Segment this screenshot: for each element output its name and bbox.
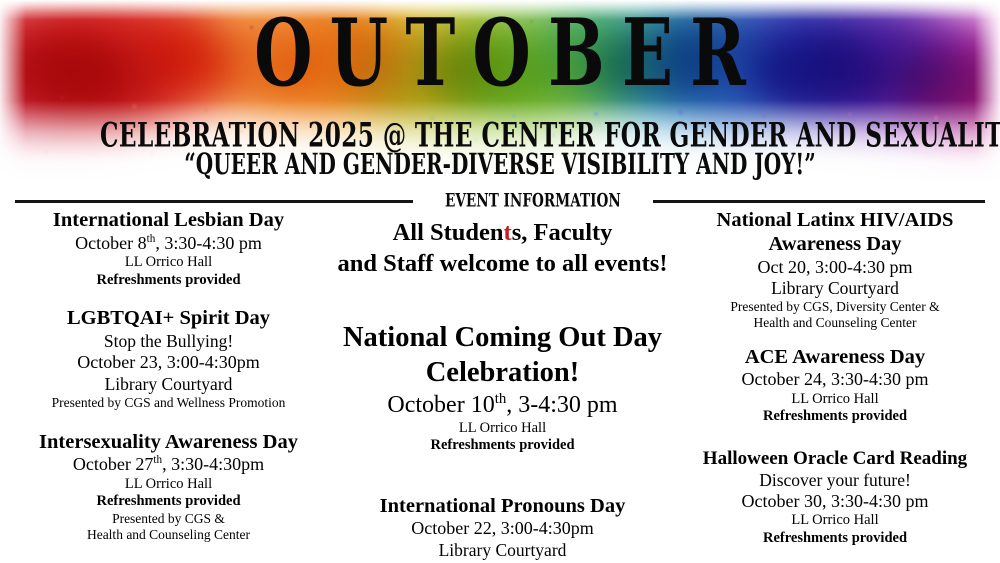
event-title-line1: National Coming Out Day <box>335 320 670 356</box>
event-presented-by-line2: Health and Counseling Center <box>2 527 335 543</box>
event-international-pronouns-day: International Pronouns Day October 22, 3… <box>335 495 670 561</box>
divider-line-right <box>653 200 985 203</box>
welcome-message: All Students, Faculty and Staff welcome … <box>335 217 670 280</box>
event-refreshments: Refreshments provided <box>2 272 335 289</box>
event-date-post: , 3-4:30 pm <box>506 392 617 418</box>
poster-root: OUTOBER CELEBRATION 2025 @ THE CENTER FO… <box>0 0 1000 563</box>
event-date-ordinal: th <box>495 391 507 407</box>
event-ace-awareness-day: ACE Awareness Day October 24, 3:30-4:30 … <box>670 346 1000 426</box>
event-date-post: , 3:30-4:30 pm <box>155 233 262 253</box>
spacer <box>335 455 670 495</box>
event-title: International Pronouns Day <box>335 495 670 519</box>
welcome-line-1: All Students, Faculty <box>335 217 670 248</box>
event-date: October 27th, 3:30-4:30pm <box>2 454 335 476</box>
page-title: OUTOBER <box>110 0 890 108</box>
event-date-pre: October 10 <box>387 392 494 418</box>
event-presented-by-line2: Health and Counseling Center <box>670 315 1000 331</box>
event-title: LGBTQAI+ Spirit Day <box>2 307 335 331</box>
event-title-line1: National Latinx HIV/AIDS <box>670 209 1000 233</box>
divider-line-left <box>15 200 413 203</box>
event-subtitle: Stop the Bullying! <box>2 331 335 352</box>
column-middle: All Students, Faculty and Staff welcome … <box>335 209 670 563</box>
spray-dot <box>678 110 683 115</box>
welcome-line-1-a: All Studen <box>393 219 504 246</box>
event-date: October 30, 3:30-4:30 pm <box>670 491 1000 513</box>
event-venue: LL Orrico Hall <box>2 476 335 493</box>
event-title-line2: Awareness Day <box>670 233 1000 257</box>
event-date: Oct 20, 3:00-4:30 pm <box>670 257 1000 279</box>
event-presented-by: Presented by CGS and Wellness Promotion <box>2 395 335 411</box>
spray-dot <box>352 110 356 114</box>
event-columns: International Lesbian Day October 8th, 3… <box>0 209 1000 563</box>
welcome-line-1-b: s, Faculty <box>512 219 613 246</box>
event-national-coming-out-day: National Coming Out Day Celebration! Oct… <box>335 320 670 455</box>
spacer <box>335 280 670 320</box>
event-lgbtqai-spirit-day: LGBTQAI+ Spirit Day Stop the Bullying! O… <box>2 307 335 411</box>
event-venue: LL Orrico Hall <box>670 391 1000 408</box>
event-intersexuality-awareness-day: Intersexuality Awareness Day October 27t… <box>2 431 335 544</box>
event-presented-by-line1: Presented by CGS, Diversity Center & <box>670 299 1000 315</box>
event-title: ACE Awareness Day <box>670 346 1000 370</box>
spacer <box>670 332 1000 346</box>
event-venue: LL Orrico Hall <box>2 254 335 271</box>
event-national-latinx-hiv-aids-awareness-day: National Latinx HIV/AIDS Awareness Day O… <box>670 209 1000 332</box>
event-international-lesbian-day: International Lesbian Day October 8th, 3… <box>2 209 335 289</box>
welcome-line-2: and Staff welcome to all events! <box>335 248 670 279</box>
event-refreshments: Refreshments provided <box>670 530 1000 547</box>
spacer <box>2 411 335 431</box>
welcome-accent-letter: t <box>504 219 512 246</box>
event-title: Halloween Oracle Card Reading <box>670 448 1000 470</box>
mottle-6 <box>900 50 1000 122</box>
spacer <box>670 426 1000 448</box>
spacer <box>335 209 670 217</box>
event-venue: LL Orrico Hall <box>670 512 1000 529</box>
mottle-1 <box>10 40 120 110</box>
event-venue: Library Courtyard <box>335 540 670 561</box>
event-venue: LL Orrico Hall <box>335 420 670 437</box>
event-refreshments: Refreshments provided <box>670 408 1000 425</box>
event-refreshments: Refreshments provided <box>2 493 335 510</box>
event-date-pre: October 8 <box>75 233 146 253</box>
event-date: October 23, 3:00-4:30pm <box>2 352 335 374</box>
event-date: October 10th, 3-4:30 pm <box>335 391 670 420</box>
column-left: International Lesbian Day October 8th, 3… <box>0 209 335 563</box>
event-refreshments: Refreshments provided <box>335 437 670 454</box>
event-venue: Library Courtyard <box>670 278 1000 299</box>
event-venue: Library Courtyard <box>2 374 335 395</box>
event-title: Intersexuality Awareness Day <box>2 431 335 455</box>
spray-dot <box>204 108 208 112</box>
spray-dot <box>44 150 47 153</box>
event-date-pre: October 27 <box>73 454 153 474</box>
event-presented-by-line1: Presented by CGS & <box>2 511 335 527</box>
event-date-ordinal: th <box>153 454 162 466</box>
event-date: October 8th, 3:30-4:30 pm <box>2 233 335 255</box>
spray-dot <box>60 96 64 100</box>
column-right: National Latinx HIV/AIDS Awareness Day O… <box>670 209 1000 563</box>
event-halloween-oracle-card-reading: Halloween Oracle Card Reading Discover y… <box>670 448 1000 547</box>
subtitle-line2: “QUEER AND GENDER-DIVERSE VISIBILITY AND… <box>100 150 900 180</box>
event-subtitle: Discover your future! <box>670 470 1000 491</box>
event-date-post: , 3:30-4:30pm <box>162 454 264 474</box>
spacer <box>2 289 335 307</box>
event-date: October 22, 3:00-4:30pm <box>335 518 670 540</box>
event-date: October 24, 3:30-4:30 pm <box>670 369 1000 391</box>
spray-dot <box>96 118 99 121</box>
event-title-line2: Celebration! <box>335 355 670 391</box>
event-title: International Lesbian Day <box>2 209 335 233</box>
